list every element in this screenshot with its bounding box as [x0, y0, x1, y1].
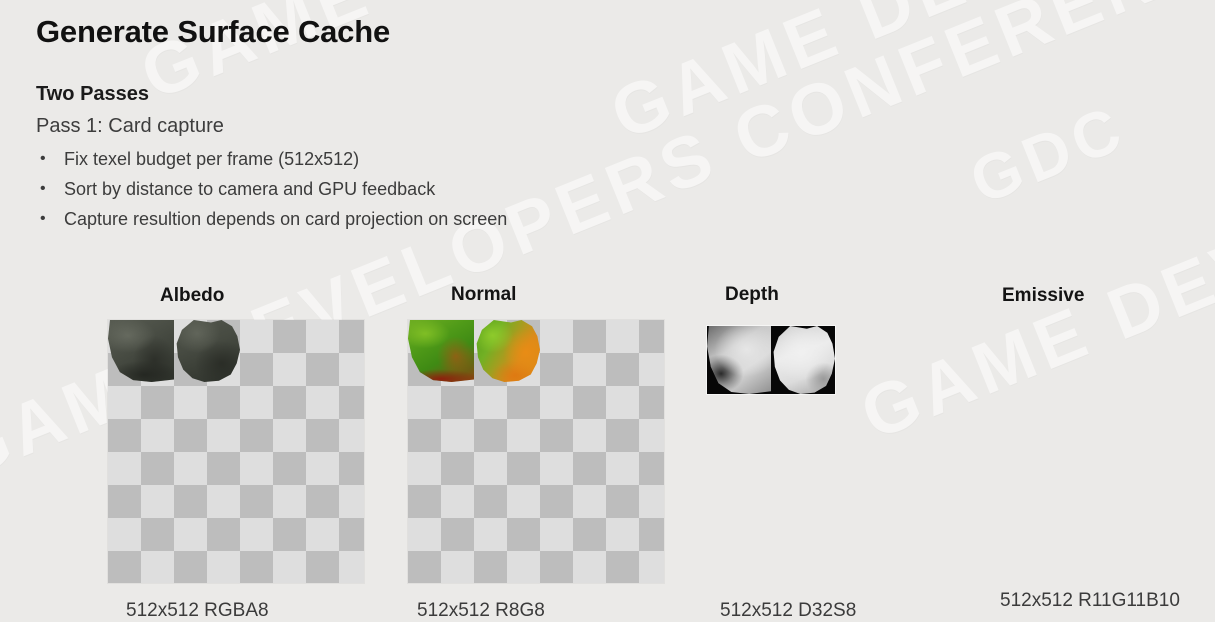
channel-header-normal: Normal: [451, 284, 516, 306]
channel-header-depth: Depth: [725, 284, 779, 306]
gbuffer-channel-row: Albedo 512x512 RGBA8 Normal 512x512 R8G8…: [0, 0, 1215, 622]
channel-header-albedo: Albedo: [160, 285, 224, 307]
channel-caption-emissive: 512x512 R11G11B10: [1000, 590, 1180, 612]
channel-caption-normal: 512x512 R8G8: [417, 600, 545, 622]
channel-caption-depth: 512x512 D32S8: [720, 600, 856, 622]
channel-header-emissive: Emissive: [1002, 285, 1084, 307]
channel-caption-albedo: 512x512 RGBA8: [126, 600, 269, 622]
